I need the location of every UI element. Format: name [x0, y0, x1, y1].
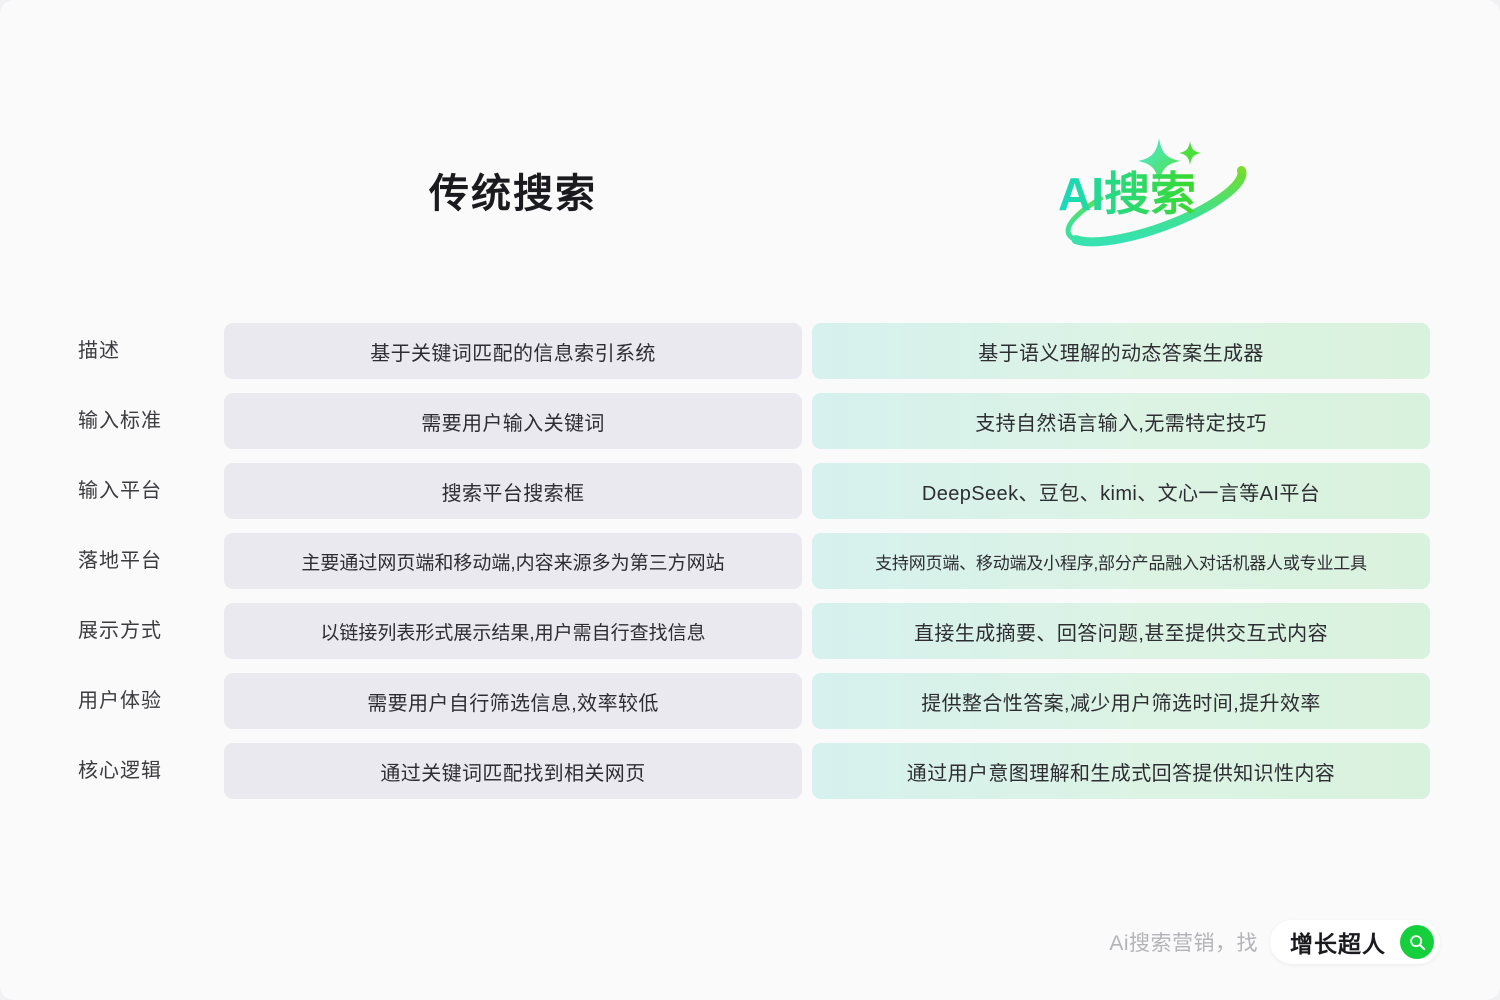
cell-left-text-6: 通过关键词匹配找到相关网页 [380, 757, 645, 786]
logo-wordmark: AI搜索 [1058, 168, 1196, 220]
cell-left-2: 搜索平台搜索框 [224, 463, 802, 519]
cell-left-text-3: 主要通过网页端和移动端,内容来源多为第三方网站 [301, 548, 724, 575]
cell-left-text-1: 需要用户输入关键词 [421, 407, 605, 436]
cell-right-text-6: 通过用户意图理解和生成式回答提供知识性内容 [907, 757, 1335, 786]
cell-right-2: DeepSeek、豆包、kimi、文心一言等AI平台 [812, 463, 1430, 519]
cell-left-5: 需要用户自行筛选信息,效率较低 [224, 673, 802, 729]
cell-right-text-0: 基于语义理解的动态答案生成器 [978, 337, 1264, 366]
brand-name: 增长超人 [1290, 925, 1386, 959]
cell-right-text-1: 支持自然语言输入,无需特定技巧 [975, 407, 1267, 436]
cell-right-text-3: 支持网页端、移动端及小程序,部分产品融入对话机器人或专业工具 [875, 549, 1367, 574]
cell-left-text-0: 基于关键词匹配的信息索引系统 [370, 337, 656, 366]
cell-right-4: 直接生成摘要、回答问题,甚至提供交互式内容 [812, 603, 1430, 659]
brand-pill[interactable]: 增长超人 [1270, 920, 1440, 964]
footer-branding: Ai搜索营销，找 增长超人 [1109, 920, 1440, 964]
cell-left-0: 基于关键词匹配的信息索引系统 [224, 323, 802, 379]
cell-left-text-4: 以链接列表形式展示结果,用户需自行查找信息 [320, 618, 705, 645]
cell-right-5: 提供整合性答案,减少用户筛选时间,提升效率 [812, 673, 1430, 729]
slide-canvas: 传统搜索 [0, 0, 1500, 1000]
search-icon[interactable] [1400, 925, 1434, 959]
cell-right-1: 支持自然语言输入,无需特定技巧 [812, 393, 1430, 449]
row-label-4: 展示方式 [78, 603, 218, 659]
cell-right-3: 支持网页端、移动端及小程序,部分产品融入对话机器人或专业工具 [812, 533, 1430, 589]
cell-right-text-4: 直接生成摘要、回答问题,甚至提供交互式内容 [914, 617, 1328, 646]
cell-right-text-5: 提供整合性答案,减少用户筛选时间,提升效率 [921, 687, 1321, 716]
cell-left-6: 通过关键词匹配找到相关网页 [224, 743, 802, 799]
row-label-5: 用户体验 [78, 673, 218, 729]
row-label-6: 核心逻辑 [78, 743, 218, 799]
cell-left-text-2: 搜索平台搜索框 [442, 477, 585, 506]
cell-right-0: 基于语义理解的动态答案生成器 [812, 323, 1430, 379]
footer-tagline: Ai搜索营销，找 [1109, 927, 1258, 957]
row-label-0: 描述 [78, 323, 218, 379]
sparkle-star-small-icon [1179, 141, 1201, 165]
row-label-2: 输入平台 [78, 463, 218, 519]
cell-left-3: 主要通过网页端和移动端,内容来源多为第三方网站 [224, 533, 802, 589]
row-label-3: 落地平台 [78, 533, 218, 589]
cell-left-1: 需要用户输入关键词 [224, 393, 802, 449]
cell-right-text-2: DeepSeek、豆包、kimi、文心一言等AI平台 [922, 477, 1320, 506]
ai-search-logo: AI搜索 [1030, 120, 1280, 270]
cell-right-6: 通过用户意图理解和生成式回答提供知识性内容 [812, 743, 1430, 799]
row-label-1: 输入标准 [78, 393, 218, 449]
page-title-traditional-search: 传统搜索 [224, 170, 802, 218]
cell-left-4: 以链接列表形式展示结果,用户需自行查找信息 [224, 603, 802, 659]
cell-left-text-5: 需要用户自行筛选信息,效率较低 [367, 687, 659, 716]
